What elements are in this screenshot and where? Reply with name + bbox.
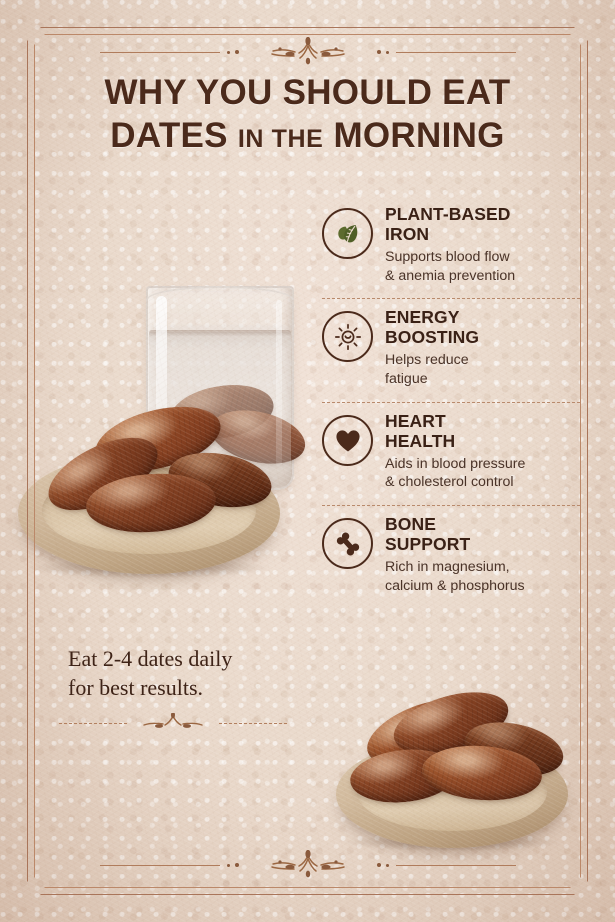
flourish-icon	[127, 713, 219, 733]
infographic-poster: WHY YOU SHOULD EAT DATES IN THE MORNING …	[0, 0, 615, 922]
flourish-icon	[249, 850, 367, 880]
benefit-heading: ENERGY BOOSTING	[385, 308, 580, 348]
flourish-icon	[249, 37, 367, 67]
title-line-1: WHY YOU SHOULD EAT	[0, 74, 615, 112]
ornament-rule	[219, 723, 287, 724]
ornament-note	[58, 712, 288, 734]
ornament-dot	[377, 863, 381, 867]
ornament-bottom	[0, 848, 615, 882]
title-word-dates: DATES	[110, 116, 228, 155]
benefit-separator	[322, 505, 580, 506]
ornament-dot	[235, 863, 239, 867]
ornament-rule	[396, 865, 516, 866]
water-surface	[149, 330, 291, 337]
bone-icon	[322, 518, 373, 569]
benefit-description: Helps reduce fatigue	[385, 351, 580, 388]
ornament-dots	[227, 863, 239, 867]
ornament-dot	[227, 51, 230, 54]
benefit-heading: PLANT-BASED IRON	[385, 205, 580, 245]
benefit-text: BONE SUPPORT Rich in magnesium, calcium …	[385, 515, 580, 595]
benefit-item-energy-boosting: ENERGY BOOSTING Helps reduce fatigue	[322, 308, 580, 392]
ornament-dots	[227, 50, 239, 54]
dates-pile-left	[18, 392, 288, 552]
benefit-item-plant-based-iron: PLANT-BASED IRON Supports blood flow & a…	[322, 205, 580, 289]
ornament-rule	[59, 723, 127, 724]
benefit-item-bone-support: BONE SUPPORT Rich in magnesium, calcium …	[322, 515, 580, 599]
title-word-inthe: IN THE	[238, 125, 324, 153]
heart-icon	[322, 415, 373, 466]
benefit-description: Aids in blood pressure & cholesterol con…	[385, 455, 580, 492]
ornament-dots	[377, 863, 389, 867]
sun-icon	[322, 311, 373, 362]
ornament-dot	[235, 50, 239, 54]
title-line-2: DATES IN THE MORNING	[0, 117, 615, 155]
ornament-dot	[227, 864, 230, 867]
benefit-item-heart-health: HEART HEALTH Aids in blood pressure & ch…	[322, 412, 580, 496]
ornament-dot	[386, 51, 389, 54]
leaf-icon	[322, 208, 373, 259]
ornament-dot	[377, 50, 381, 54]
ornament-rule	[100, 52, 220, 53]
ornament-dot	[386, 864, 389, 867]
ornament-dots	[377, 50, 389, 54]
benefit-description: Supports blood flow & anemia prevention	[385, 248, 580, 285]
benefit-text: PLANT-BASED IRON Supports blood flow & a…	[385, 205, 580, 285]
ornament-top	[0, 35, 615, 69]
title-word-morning: MORNING	[333, 116, 504, 155]
footer-note: Eat 2-4 dates daily for best results.	[68, 645, 308, 702]
benefit-heading: HEART HEALTH	[385, 412, 580, 452]
ornament-rule	[396, 52, 516, 53]
benefit-description: Rich in magnesium, calcium & phosphorus	[385, 558, 580, 595]
benefit-text: HEART HEALTH Aids in blood pressure & ch…	[385, 412, 580, 492]
dates-pile-right	[336, 692, 572, 824]
benefit-heading: BONE SUPPORT	[385, 515, 580, 555]
benefit-separator	[322, 402, 580, 403]
benefits-list: PLANT-BASED IRON Supports blood flow & a…	[322, 205, 580, 599]
ornament-rule	[100, 865, 220, 866]
benefit-separator	[322, 298, 580, 299]
page-title: WHY YOU SHOULD EAT DATES IN THE MORNING	[0, 74, 615, 155]
benefit-text: ENERGY BOOSTING Helps reduce fatigue	[385, 308, 580, 388]
